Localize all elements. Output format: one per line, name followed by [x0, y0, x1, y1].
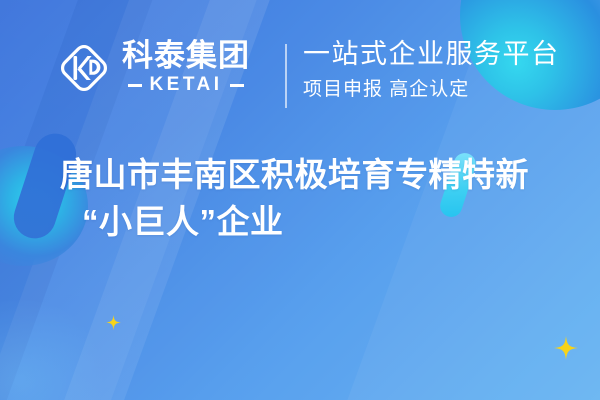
brand-logo: 科泰集团 KETAI — [56, 40, 250, 97]
dash-right-icon — [230, 84, 244, 87]
brand-name-en: KETAI — [149, 74, 222, 96]
promo-banner: 科泰集团 KETAI 一站式企业服务平台 项目申报 高企认定 唐山市丰南区积极培… — [0, 0, 600, 400]
title-line-1: 唐山市丰南区积极培育专精特新 — [60, 152, 560, 199]
sparkle-large-right-icon — [554, 336, 578, 360]
brand-name-cn: 科泰集团 — [122, 40, 250, 72]
slogan-secondary: 项目申报 高企认定 — [303, 77, 560, 103]
banner-header: 科泰集团 KETAI 一站式企业服务平台 项目申报 高企认定 — [0, 0, 600, 136]
title-line-2: “小巨人”企业 — [82, 199, 560, 246]
brand-name-en-row: KETAI — [122, 74, 250, 96]
sparkle-small-left-icon — [106, 315, 121, 330]
dash-left-icon — [128, 84, 142, 87]
ketai-diamond-monogram-icon — [56, 40, 112, 96]
header-slogan: 一站式企业服务平台 项目申报 高企认定 — [303, 38, 560, 102]
glow-bottom-left — [0, 300, 110, 400]
header-divider — [285, 44, 287, 108]
brand-wordmark: 科泰集团 KETAI — [122, 40, 250, 97]
slogan-primary: 一站式企业服务平台 — [303, 38, 560, 72]
banner-title: 唐山市丰南区积极培育专精特新 “小巨人”企业 — [60, 152, 560, 246]
